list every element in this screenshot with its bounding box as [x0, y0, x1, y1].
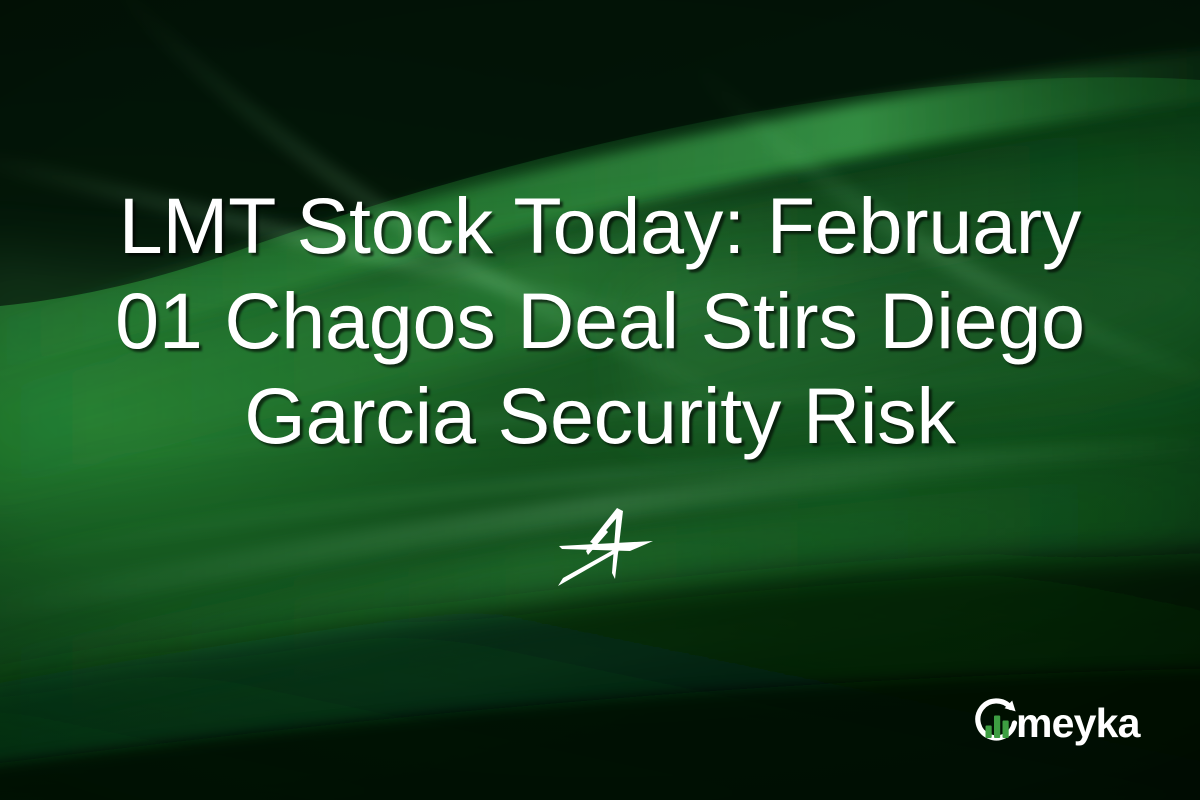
social-share-card: LMT Stock Today: February 01 Chagos Deal… — [0, 0, 1200, 800]
headline-line-3: Garcia Security Risk — [40, 368, 1160, 463]
headline: LMT Stock Today: February 01 Chagos Deal… — [0, 178, 1200, 463]
headline-line-1: LMT Stock Today: February — [40, 178, 1160, 273]
headline-line-2: 01 Chagos Deal Stirs Diego — [40, 273, 1160, 368]
lockheed-martin-star-icon — [555, 503, 655, 588]
meyka-logo[interactable]: meyka — [968, 693, 1151, 753]
meyka-wordmark: meyka — [1016, 703, 1140, 744]
